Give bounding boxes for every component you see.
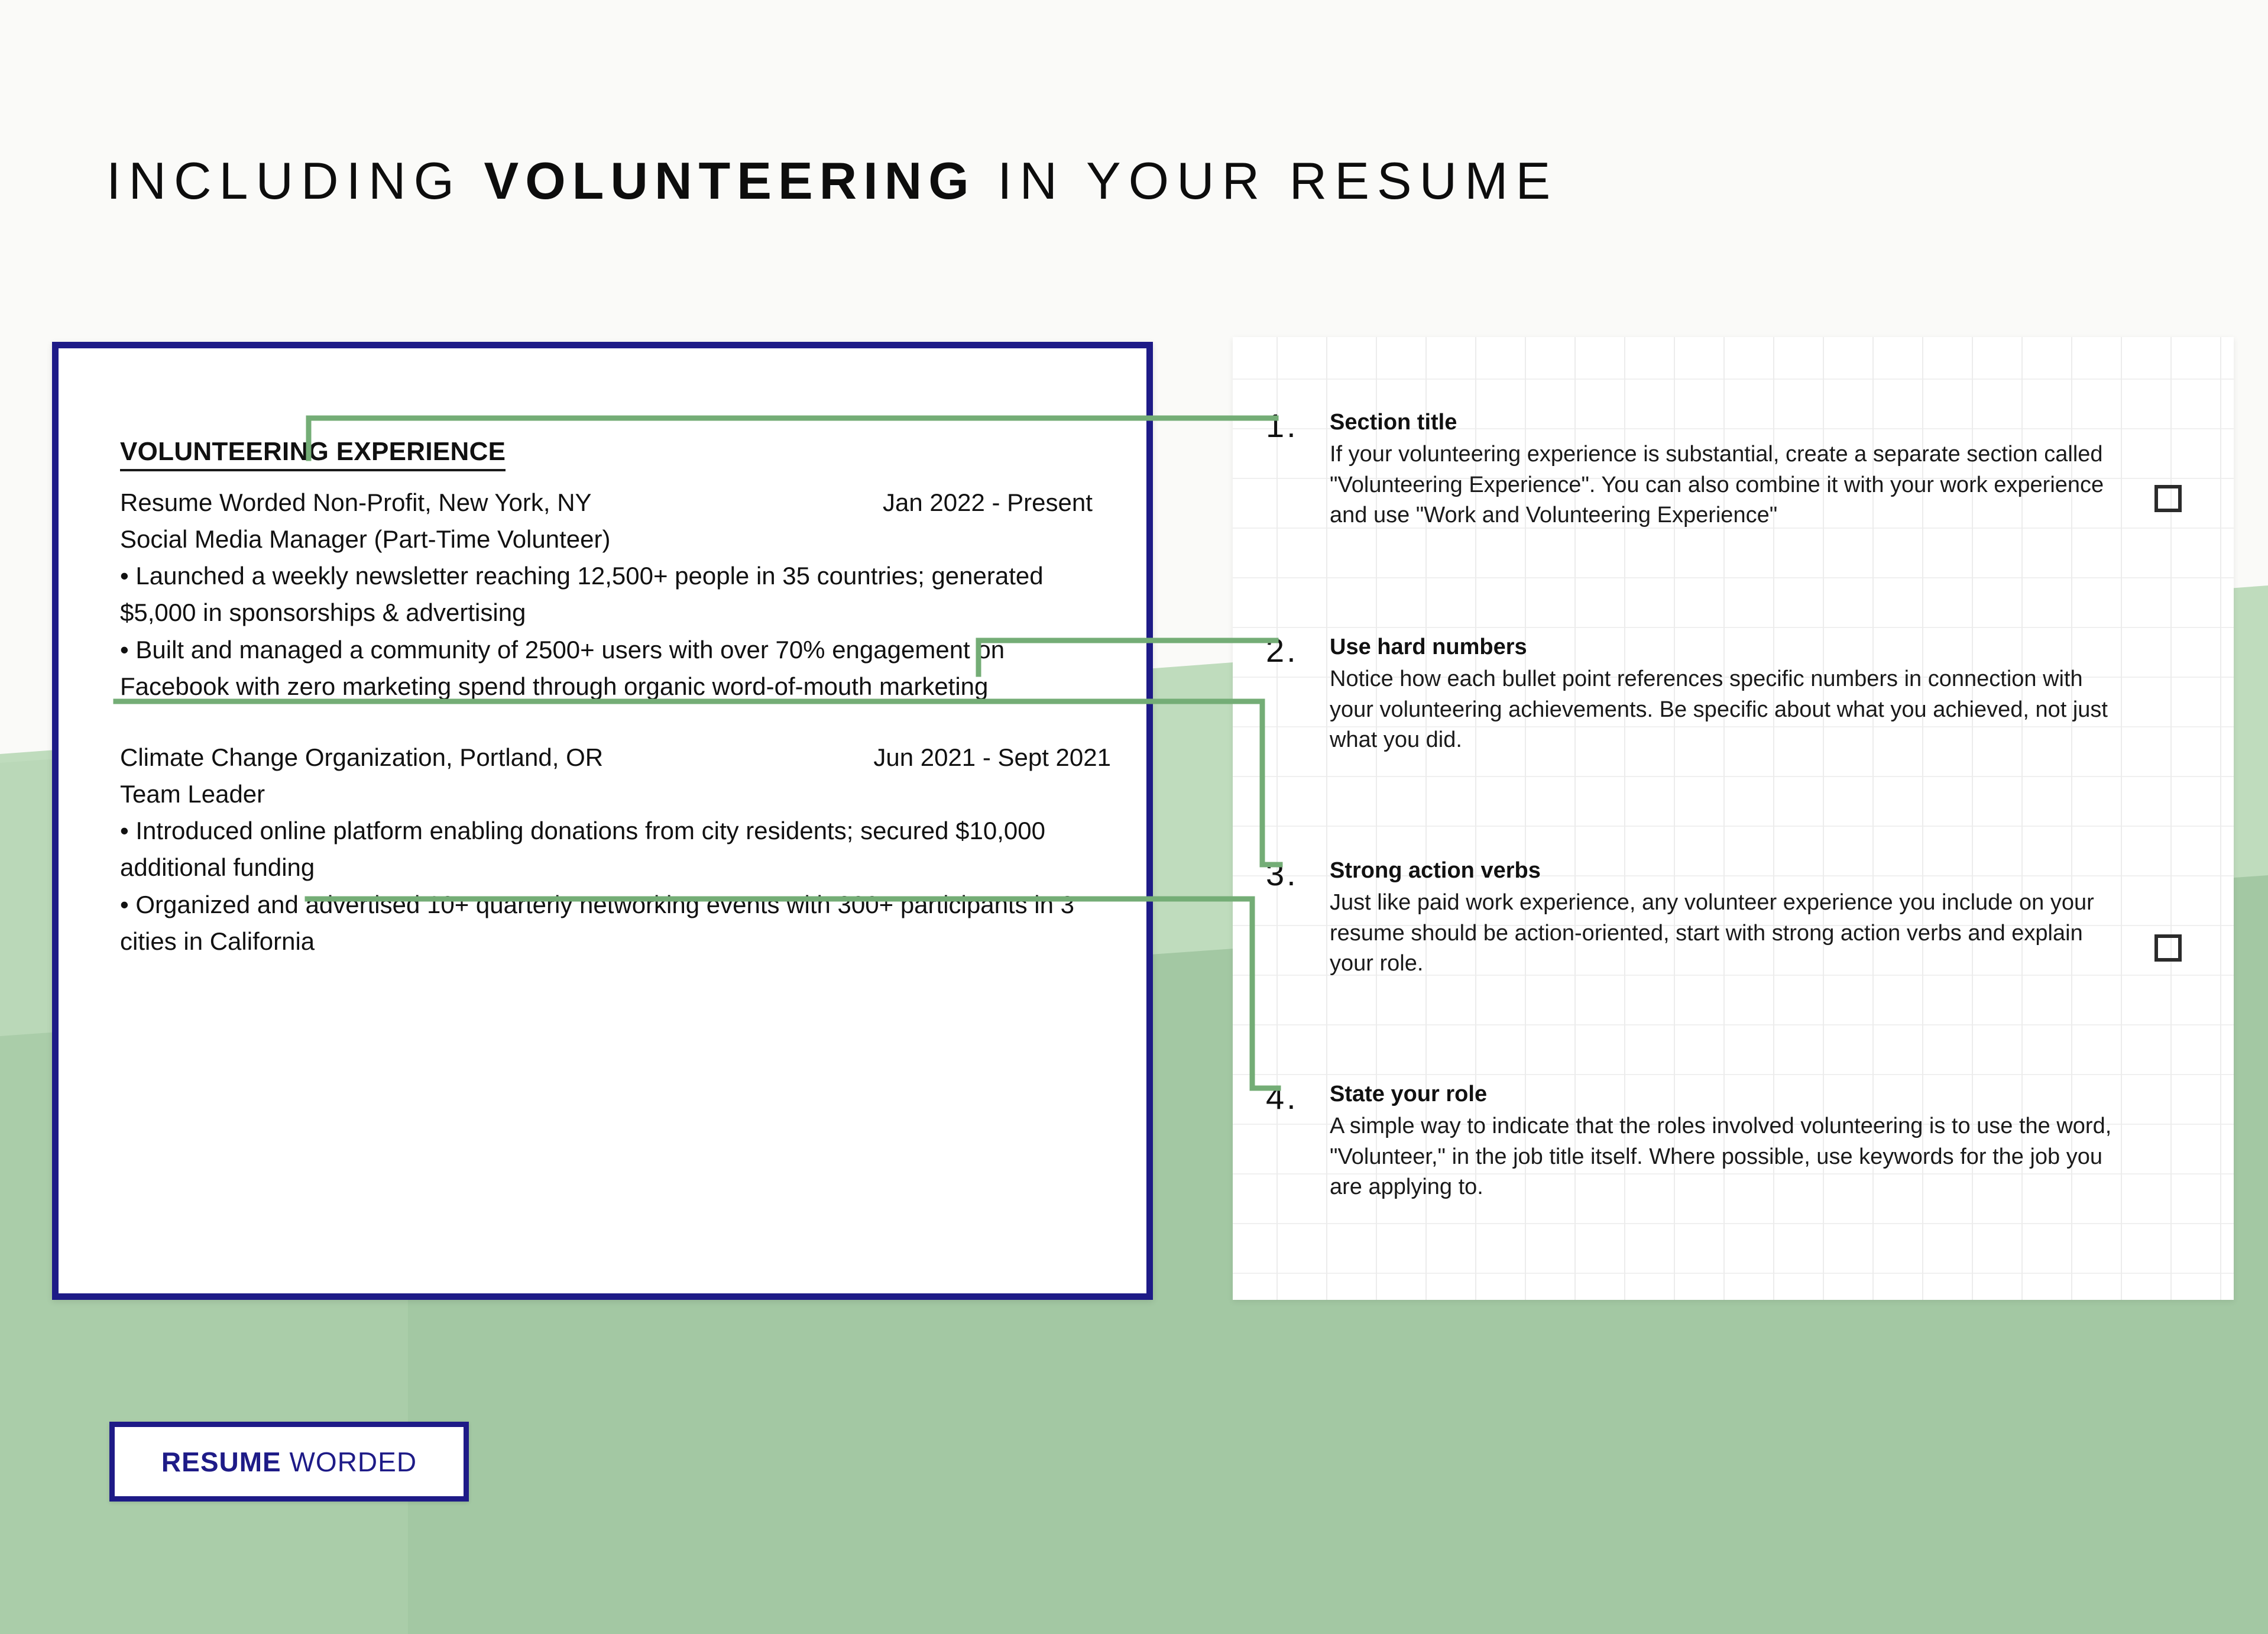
- tip-text: Notice how each bullet point references …: [1330, 664, 2121, 756]
- resume-entry: Climate Change Organization, Portland, O…: [120, 739, 1111, 960]
- tip-item: 3. Strong action verbs Just like paid wo…: [1266, 858, 2210, 979]
- tip-body: Section title If your volunteering exper…: [1330, 409, 2210, 531]
- tips-list: 1. Section title If your volunteering ex…: [1233, 337, 2234, 1300]
- logo-light-word: WORDED: [281, 1447, 417, 1477]
- tip-body: Use hard numbers Notice how each bullet …: [1330, 634, 2210, 756]
- page-title-prefix: INCLUDING: [106, 151, 484, 210]
- resume-worded-logo[interactable]: RESUME WORDED: [109, 1422, 469, 1502]
- resume-entry-role: Social Media Manager (Part-Time Voluntee…: [120, 521, 1111, 558]
- resume-entry: Resume Worded Non-Profit, New York, NY J…: [120, 484, 1111, 705]
- tip-body: Strong action verbs Just like paid work …: [1330, 858, 2210, 979]
- tip-checkbox[interactable]: [2154, 485, 2182, 512]
- resume-entry-organization: Resume Worded Non-Profit, New York, NY: [120, 484, 883, 521]
- tip-text: A simple way to indicate that the roles …: [1330, 1111, 2121, 1203]
- resume-bullet: • Introduced online platform enabling do…: [120, 813, 1111, 886]
- tip-item: 1. Section title If your volunteering ex…: [1266, 409, 2210, 531]
- tip-text: Just like paid work experience, any volu…: [1330, 888, 2121, 979]
- tip-number: 1.: [1266, 409, 1330, 442]
- page-title: INCLUDING VOLUNTEERING IN YOUR RESUME: [106, 151, 1558, 211]
- tip-number: 4.: [1266, 1081, 1330, 1114]
- tip-number: 2.: [1266, 634, 1330, 667]
- tip-item: 4. State your role A simple way to indic…: [1266, 1081, 2210, 1203]
- resume-entry-dates: Jan 2022 - Present: [883, 484, 1093, 521]
- resume-entry-header: Climate Change Organization, Portland, O…: [120, 739, 1111, 776]
- tips-panel: 1. Section title If your volunteering ex…: [1233, 337, 2234, 1300]
- page-title-emphasis: VOLUNTEERING: [484, 151, 976, 210]
- resume-bullet: • Built and managed a community of 2500+…: [120, 632, 1111, 705]
- resume-entry-spacer: [120, 705, 1111, 739]
- tip-item: 2. Use hard numbers Notice how each bull…: [1266, 634, 2210, 756]
- tip-title: State your role: [1330, 1081, 2121, 1108]
- resume-entry-role: Team Leader: [120, 776, 1111, 813]
- tip-text: If your volunteering experience is subst…: [1330, 439, 2121, 531]
- resume-entry-organization: Climate Change Organization, Portland, O…: [120, 739, 873, 776]
- tip-title: Section title: [1330, 409, 2121, 436]
- logo-text: RESUME WORDED: [161, 1446, 417, 1478]
- tip-title: Strong action verbs: [1330, 858, 2121, 884]
- tip-title: Use hard numbers: [1330, 634, 2121, 661]
- resume-entry-dates: Jun 2021 - Sept 2021: [873, 739, 1111, 776]
- resume-section-heading: VOLUNTEERING EXPERIENCE: [120, 437, 506, 471]
- tip-number: 3.: [1266, 858, 1330, 891]
- page-title-suffix: IN YOUR RESUME: [976, 151, 1559, 210]
- resume-bullet: • Organized and advertised 10+ quarterly…: [120, 886, 1111, 960]
- resume-bullet: • Launched a weekly newsletter reaching …: [120, 558, 1111, 631]
- resume-content: VOLUNTEERING EXPERIENCE Resume Worded No…: [120, 437, 1111, 960]
- tip-body: State your role A simple way to indicate…: [1330, 1081, 2210, 1203]
- logo-bold-word: RESUME: [161, 1447, 281, 1477]
- resume-entry-header: Resume Worded Non-Profit, New York, NY J…: [120, 484, 1111, 521]
- resume-preview-card: VOLUNTEERING EXPERIENCE Resume Worded No…: [52, 342, 1153, 1300]
